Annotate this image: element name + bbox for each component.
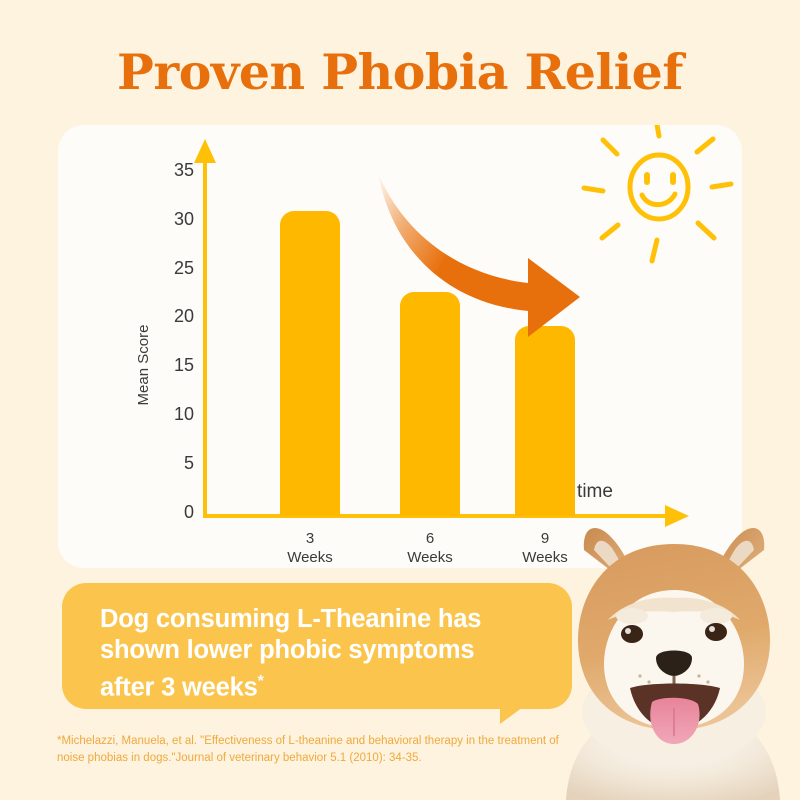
y-tick-label: 10 [174,404,194,424]
chart-card: 35 30 25 20 15 10 5 0 Mean Score [58,125,742,568]
y-tick-label: 35 [174,160,194,180]
x-tick-label: 6 [426,530,434,547]
x-tick-labels: 3 Weeks 6 Weeks 9 Weeks [287,530,568,566]
x-tick-label: Weeks [407,549,453,566]
footnote: *Michelazzi, Manuela, et al. "Effectiven… [57,733,577,767]
y-tick-labels: 35 30 25 20 15 10 5 0 [174,160,194,522]
x-tick-label: 3 [306,530,314,547]
y-axis-title: Mean Score [135,325,152,406]
page-title: Proven Phobia Relief [0,43,800,101]
y-tick-label: 25 [174,258,194,278]
x-axis-title: time [577,481,613,502]
y-tick-label: 30 [174,209,194,229]
bar-chart: 35 30 25 20 15 10 5 0 Mean Score [58,125,742,568]
smiling-sun-icon [584,125,731,261]
bar-3-weeks [280,211,340,516]
dog-photo [548,516,800,800]
y-tick-label: 5 [184,453,194,473]
y-axis [194,139,216,518]
callout-line-2: shown lower phobic symptoms [100,636,474,664]
callout-text: Dog consuming L-Theanine has shown lower… [100,604,570,704]
callout-line-1: Dog consuming L-Theanine has [100,605,481,633]
x-tick-label: Weeks [287,549,333,566]
footnote-marker: * [258,673,264,690]
callout-line-3: after 3 weeks [100,674,258,702]
footnote-line-1: *Michelazzi, Manuela, et al. "Effectiven… [57,735,494,747]
infographic-page: Proven Phobia Relief 35 30 25 20 15 10 [0,0,800,800]
y-tick-label: 0 [184,502,194,522]
y-tick-label: 20 [174,306,194,326]
bar-6-weeks [400,292,460,516]
y-tick-label: 15 [174,355,194,375]
